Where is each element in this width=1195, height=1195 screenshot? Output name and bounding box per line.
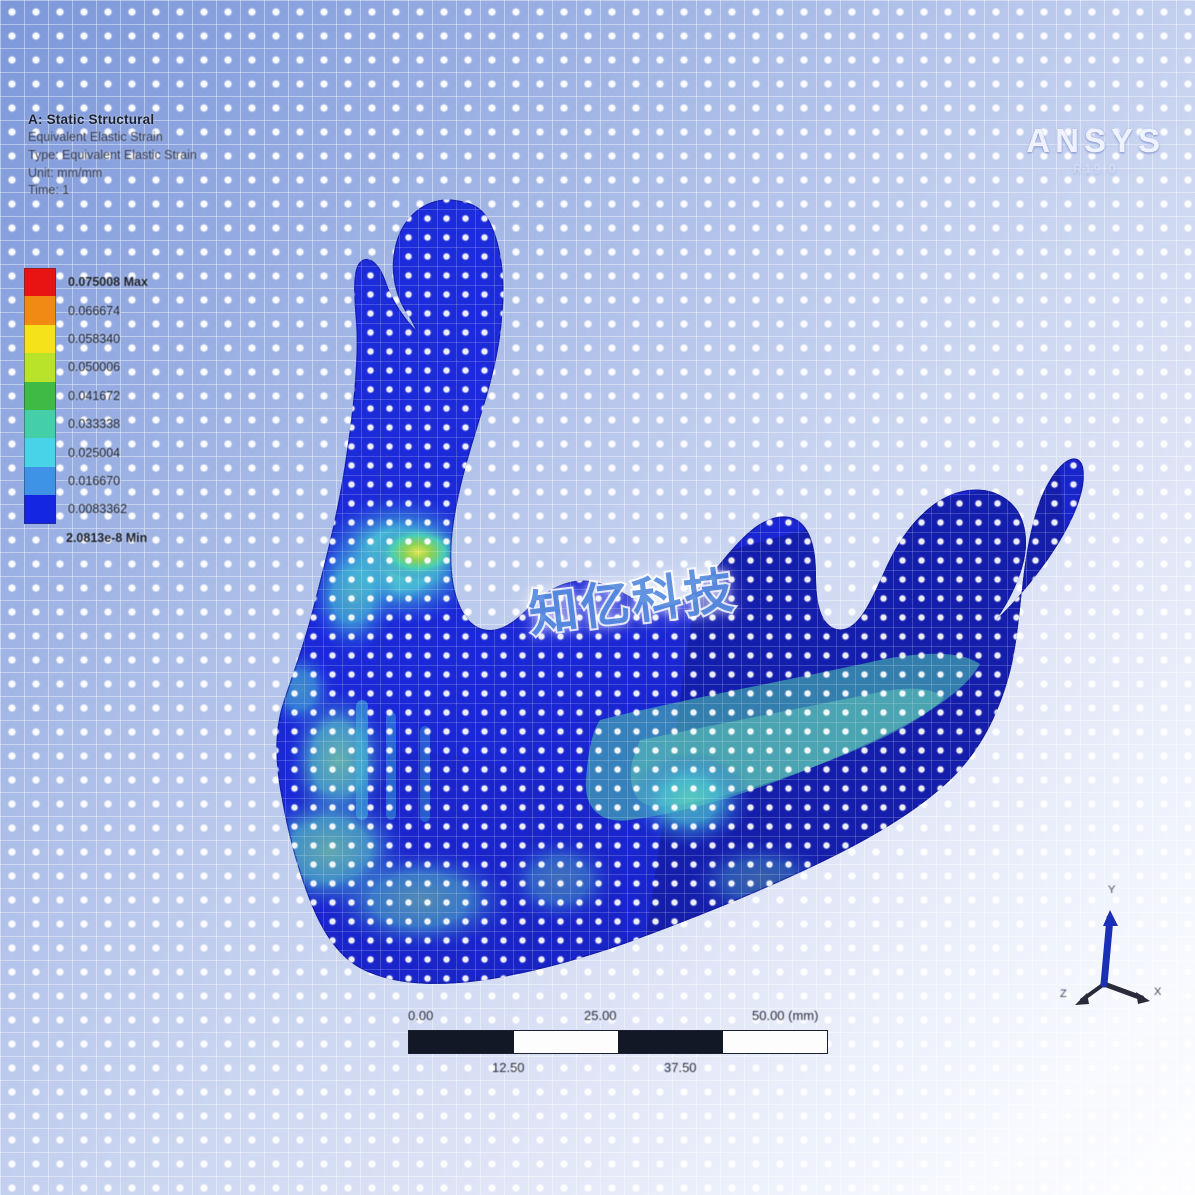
contour-region-cyan-anterior	[266, 650, 334, 730]
scale-bar-bottom-ticks: 12.50 37.50	[408, 1060, 828, 1078]
axis-triad-svg	[1058, 888, 1188, 1016]
contour-legend[interactable]: 0.075008 Max 0.066674 0.058340 0.050006 …	[24, 268, 148, 552]
axis-label-z: Z	[1060, 988, 1067, 1000]
legend-row[interactable]: 0.066674	[24, 296, 148, 324]
legend-row[interactable]: 0.075008 Max	[24, 268, 148, 296]
legend-swatch	[24, 410, 56, 438]
result-line-type: Type: Equivalent Elastic Strain	[28, 147, 197, 165]
ansys-release-label: R19.0	[1026, 162, 1165, 176]
legend-swatch	[24, 296, 56, 324]
legend-swatch-spacer	[24, 524, 54, 552]
result-line-unit: Unit: mm/mm	[28, 165, 197, 183]
axis-x-arrow	[1136, 992, 1150, 1004]
scale-bar-segment	[670, 1031, 722, 1053]
legend-swatch	[24, 467, 56, 495]
legend-label: 0.075008 Max	[68, 275, 148, 289]
scale-tick-37-5: 37.50	[664, 1060, 697, 1075]
scale-bar-segment	[461, 1031, 513, 1053]
legend-swatch	[24, 438, 56, 466]
legend-row[interactable]: 0.016670	[24, 467, 148, 495]
scale-tick-25: 25.00	[584, 1008, 617, 1023]
result-line-time: Time: 1	[28, 182, 197, 200]
legend-rows: 0.075008 Max 0.066674 0.058340 0.050006 …	[24, 268, 148, 552]
contour-region-cyan-molar	[628, 752, 752, 848]
legend-row[interactable]: 0.050006	[24, 353, 148, 381]
legend-row-min[interactable]: 2.0813e-8 Min	[24, 524, 148, 552]
axis-y-line	[1104, 918, 1110, 984]
contour-streak-3	[420, 726, 430, 822]
scale-bar-segment	[618, 1031, 670, 1053]
legend-row[interactable]: 0.041672	[24, 382, 148, 410]
ansys-result-viewport[interactable]: A: Static Structural Equivalent Elastic …	[0, 0, 1195, 1195]
result-title: A: Static Structural	[28, 110, 197, 129]
legend-swatch	[24, 382, 56, 410]
ansys-logo: ANSYS R19.0	[1026, 124, 1165, 176]
legend-label: 0.050006	[68, 360, 120, 374]
legend-label: 0.033338	[68, 417, 120, 431]
legend-label: 0.016670	[68, 474, 120, 488]
legend-row[interactable]: 0.033338	[24, 410, 148, 438]
scale-tick-0: 0.00	[408, 1008, 433, 1023]
result-line-field: Equivalent Elastic Strain	[28, 129, 197, 147]
scale-bar-segment	[723, 1031, 775, 1053]
legend-swatch	[24, 268, 56, 297]
axis-x-line	[1104, 984, 1142, 998]
scale-bar-segment	[409, 1031, 461, 1053]
axis-triad[interactable]: Y X Z	[1058, 888, 1188, 1016]
scale-tick-50: 50.00 (mm)	[752, 1008, 818, 1023]
legend-row[interactable]: 0.058340	[24, 325, 148, 353]
legend-label: 0.066674	[68, 304, 120, 318]
contour-region-teal-premolar	[504, 836, 616, 924]
scale-bar-top-ticks: 0.00 25.00 50.00 (mm)	[408, 1008, 828, 1026]
contour-region-teal-posterior-body	[690, 840, 830, 920]
axis-label-y: Y	[1108, 884, 1115, 896]
axis-y-arrow	[1103, 910, 1118, 926]
scale-bar-segment	[775, 1031, 827, 1053]
axis-label-x: X	[1154, 986, 1161, 998]
legend-label: 0.058340	[68, 332, 120, 346]
legend-label-min: 2.0813e-8 Min	[66, 531, 147, 545]
legend-swatch	[24, 495, 56, 524]
scale-bar-segment	[514, 1031, 566, 1053]
legend-swatch	[24, 325, 56, 353]
legend-row[interactable]: 0.0083362	[24, 495, 148, 523]
legend-label: 0.025004	[68, 446, 120, 460]
scale-bar-graphic	[408, 1030, 828, 1054]
legend-row[interactable]: 0.025004	[24, 438, 148, 466]
axis-z-arrow	[1075, 993, 1089, 1005]
result-header: A: Static Structural Equivalent Elastic …	[28, 110, 197, 200]
contour-region-cyan-ramus-lower	[308, 538, 396, 654]
contour-streak-1	[356, 700, 368, 820]
scale-tick-12-5: 12.50	[492, 1060, 525, 1075]
legend-swatch	[24, 353, 56, 381]
scale-bar-segment	[566, 1031, 618, 1053]
axis-origin-dot	[1101, 981, 1108, 988]
legend-label: 0.041672	[68, 389, 120, 403]
scale-bar: 0.00 25.00 50.00 (mm) 12.50 37.50	[408, 1008, 828, 1078]
ansys-wordmark: ANSYS	[1026, 124, 1165, 157]
contour-streak-2	[386, 712, 396, 820]
contour-region-teal-chin	[324, 848, 516, 952]
legend-label: 0.0083362	[68, 502, 127, 516]
